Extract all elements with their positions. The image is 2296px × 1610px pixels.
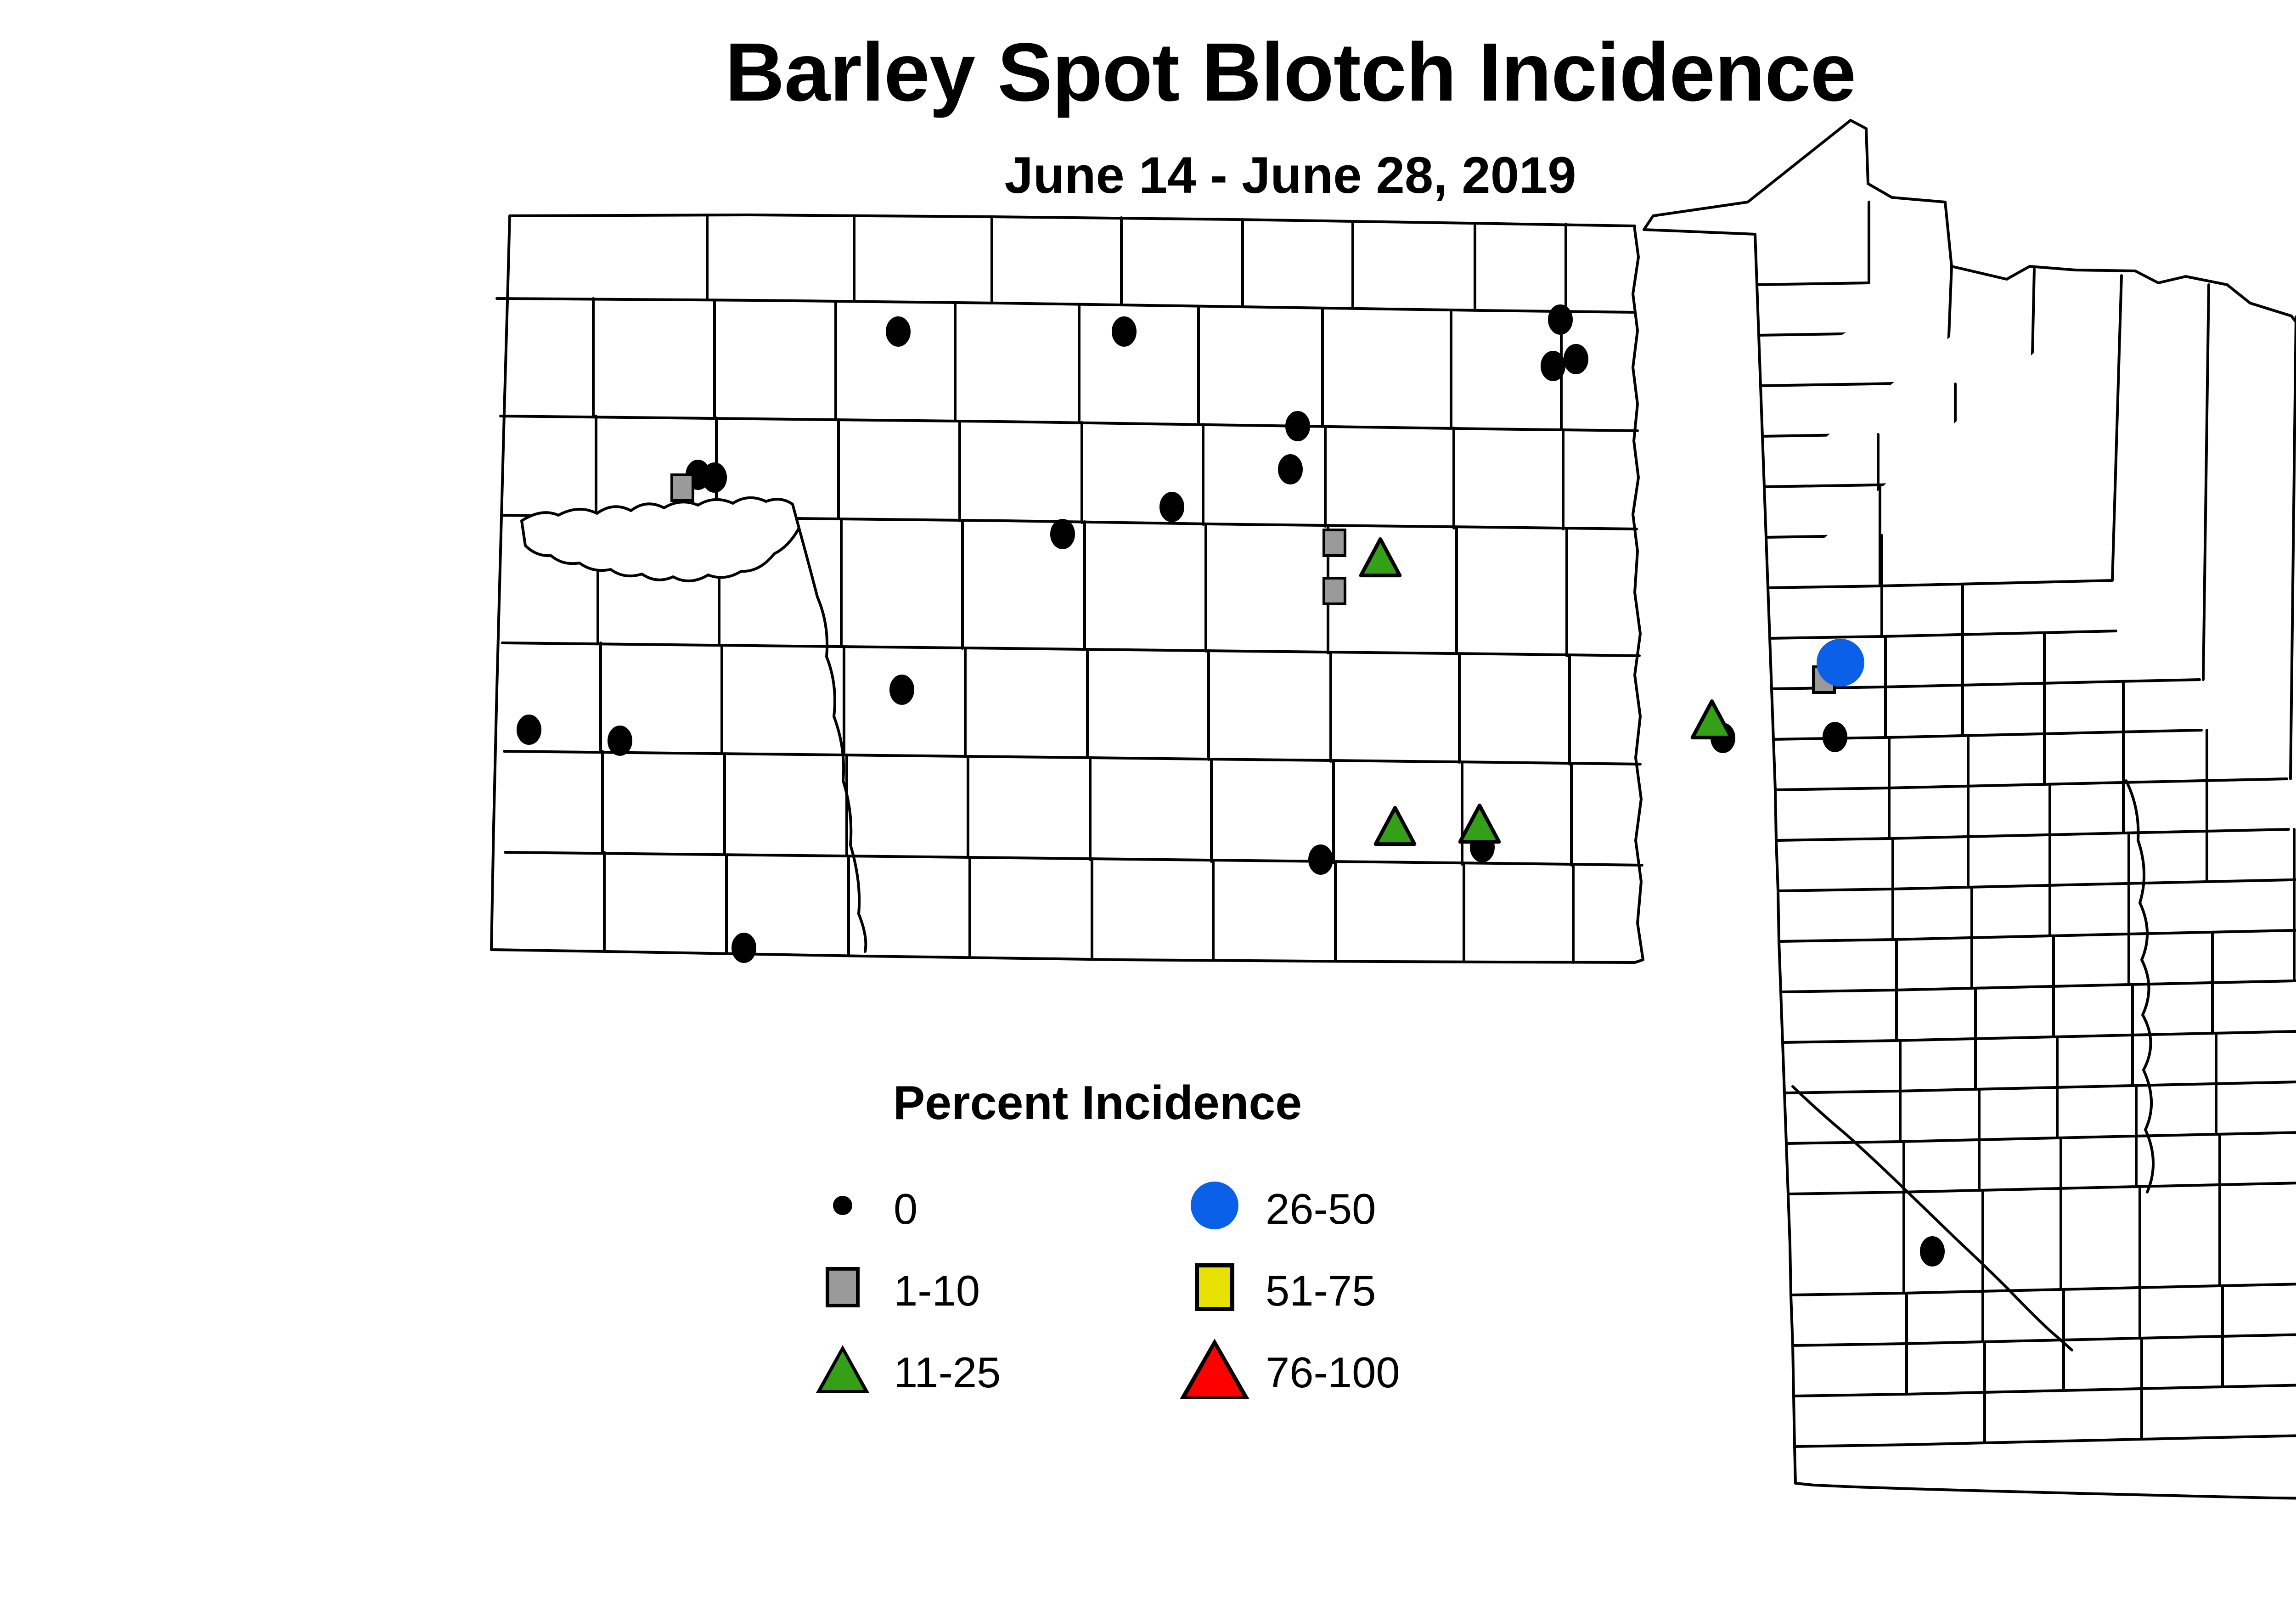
map-point-1-10	[672, 475, 693, 501]
map-point-0	[1542, 352, 1564, 380]
legend-label-0: 0	[894, 1175, 917, 1244]
legend-label-26-50: 26-50	[1266, 1175, 1376, 1244]
map-point-0	[1823, 723, 1846, 751]
map-point-0	[1309, 845, 1332, 874]
legend-label-11-25: 11-25	[894, 1338, 1001, 1407]
map-point-0	[1564, 345, 1587, 373]
green-triangle-icon	[808, 1334, 877, 1403]
map-point-0	[1279, 455, 1302, 484]
dot-icon	[808, 1171, 877, 1240]
map-point-0	[608, 726, 631, 755]
legend-title: Percent Incidence	[808, 1079, 1387, 1127]
map-point-0	[1549, 305, 1572, 334]
legend-label-51-75: 51-75	[1266, 1256, 1376, 1325]
red-triangle-icon	[1180, 1334, 1249, 1403]
minnesota-counties	[1644, 120, 2296, 1499]
map-page: Barley Spot Blotch Incidence June 14 - J…	[0, 0, 2296, 1610]
map-point-11-25	[1693, 701, 1732, 737]
map-point-0	[1286, 412, 1309, 440]
map-point-0	[1113, 317, 1136, 346]
legend: Percent Incidence 0 1-10 11-25 26-50	[808, 1079, 1451, 1460]
map-point-0	[890, 676, 913, 704]
map-point-0	[518, 715, 540, 744]
blue-circle-icon	[1180, 1171, 1249, 1240]
map-point-0	[732, 934, 755, 962]
map-point-0	[887, 317, 910, 346]
map-point-0	[1921, 1237, 1944, 1266]
gray-square-icon	[808, 1253, 877, 1322]
map-point-26-50	[1817, 639, 1864, 687]
map-point-0	[1051, 520, 1074, 548]
legend-label-76-100: 76-100	[1266, 1338, 1400, 1407]
map-point-0	[1160, 493, 1183, 521]
legend-label-1-10: 1-10	[894, 1256, 980, 1325]
map-point-0	[703, 463, 726, 492]
yellow-square-icon	[1180, 1253, 1249, 1322]
map-point-1-10	[1324, 578, 1345, 604]
map-point-1-10	[1324, 530, 1345, 556]
